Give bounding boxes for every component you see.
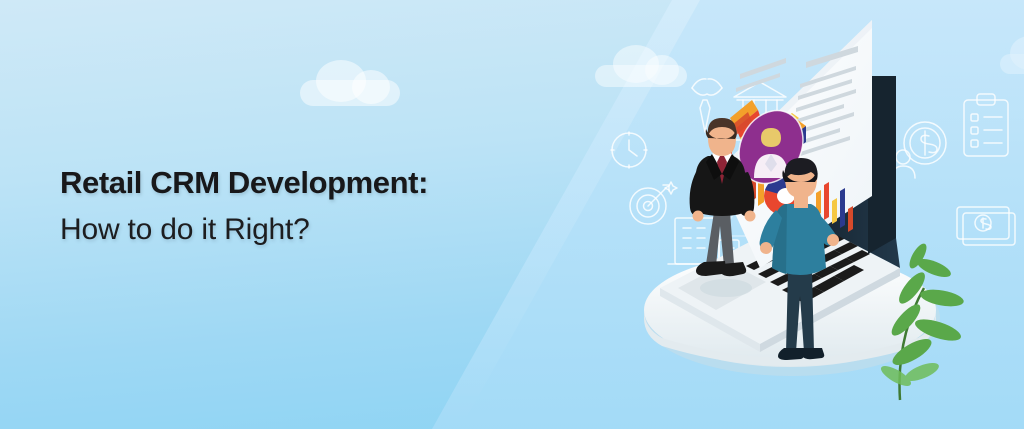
target-icon <box>630 182 677 224</box>
clipboard-icon <box>964 94 1008 156</box>
clock-icon <box>611 132 647 168</box>
banner: Retail CRM Development: How to do it Rig… <box>0 0 1024 429</box>
banknote-icon <box>957 207 1015 245</box>
headline-block: Retail CRM Development: How to do it Rig… <box>60 166 428 246</box>
page-subtitle: How to do it Right? <box>60 213 428 247</box>
illustration <box>600 0 1024 429</box>
page-title: Retail CRM Development: <box>60 166 428 201</box>
